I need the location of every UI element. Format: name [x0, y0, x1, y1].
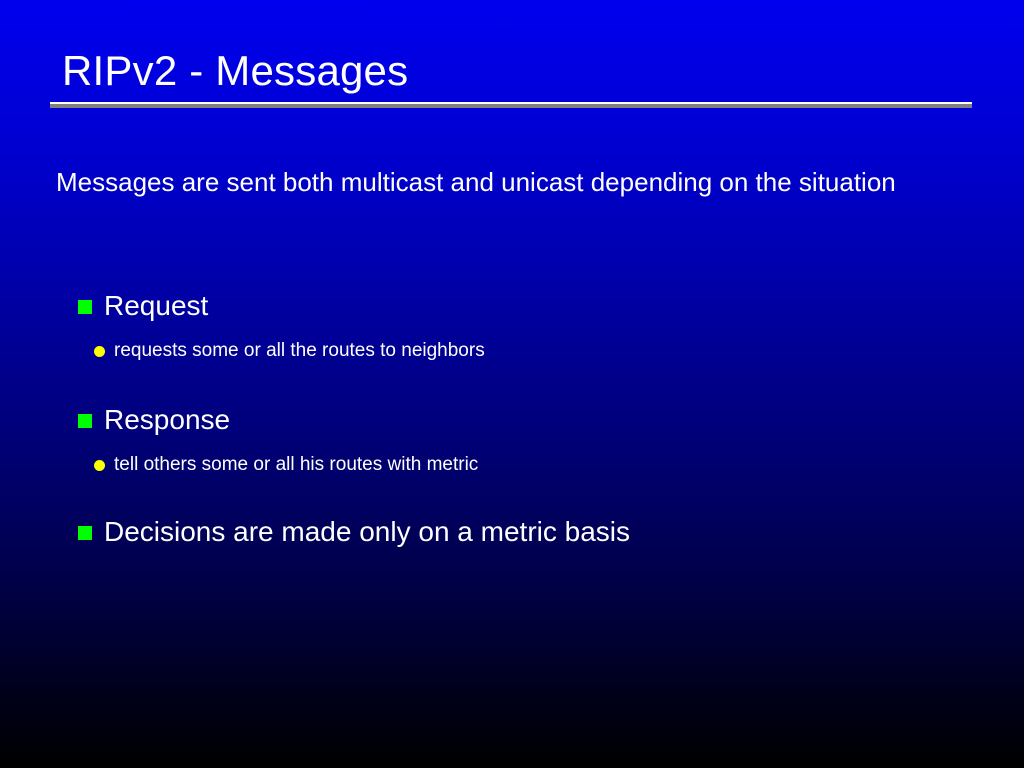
page-title: RIPv2 - Messages	[50, 46, 972, 96]
bullet-label: Request	[104, 288, 976, 324]
title-block: RIPv2 - Messages	[50, 46, 972, 108]
sub-bullet-label: requests some or all the routes to neigh…	[114, 338, 976, 364]
list-item: Request	[56, 288, 976, 326]
spacer	[56, 478, 976, 514]
bullet-group-response: Response tell others some or all his rou…	[56, 402, 976, 478]
divider-shadow-line	[50, 104, 972, 108]
list-item: Response	[56, 402, 976, 440]
bullet-group-decisions: Decisions are made only on a metric basi…	[56, 514, 976, 552]
yellow-dot-bullet-icon	[94, 460, 105, 471]
list-item: requests some or all the routes to neigh…	[56, 338, 976, 364]
bullet-label: Response	[104, 402, 976, 438]
bullet-group-request: Request requests some or all the routes …	[56, 288, 976, 364]
presentation-slide: RIPv2 - Messages Messages are sent both …	[0, 0, 1024, 768]
green-square-bullet-icon	[78, 526, 92, 540]
green-square-bullet-icon	[78, 300, 92, 314]
green-square-bullet-icon	[78, 414, 92, 428]
slide-body-paragraph: Messages are sent both multicast and uni…	[56, 160, 946, 205]
list-item: Decisions are made only on a metric basi…	[56, 514, 976, 552]
spacer	[56, 364, 976, 402]
sub-bullet-label: tell others some or all his routes with …	[114, 452, 976, 478]
title-divider	[50, 102, 972, 108]
bullet-list: Request requests some or all the routes …	[56, 288, 976, 554]
yellow-dot-bullet-icon	[94, 346, 105, 357]
list-item: tell others some or all his routes with …	[56, 452, 976, 478]
bullet-label: Decisions are made only on a metric basi…	[104, 514, 976, 550]
